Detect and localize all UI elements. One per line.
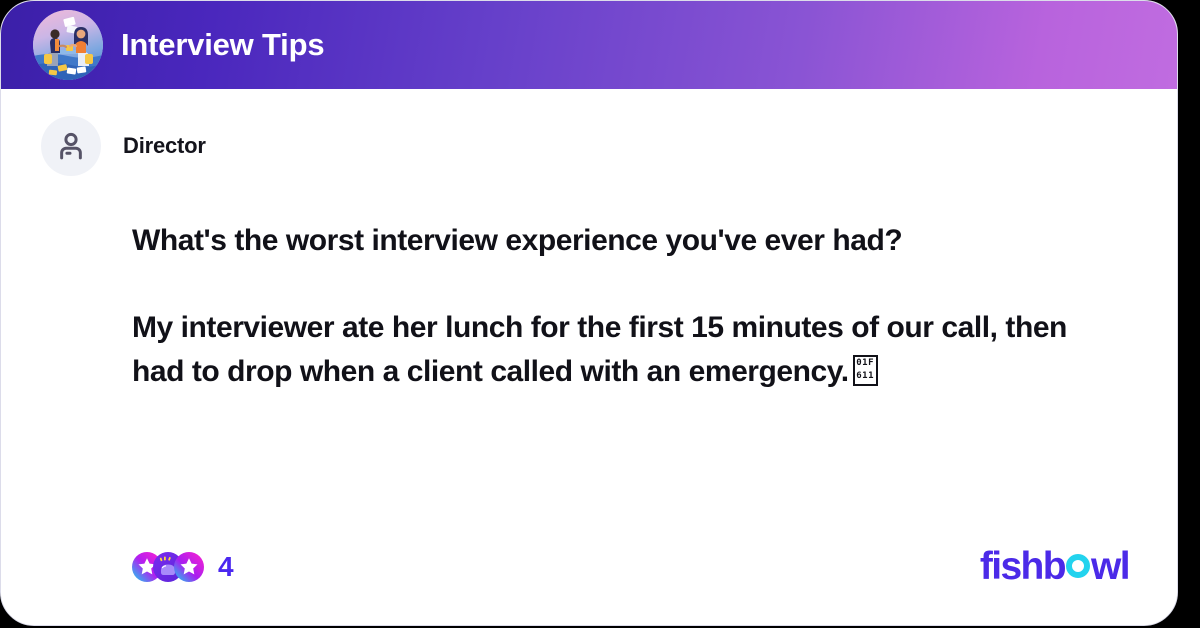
logo-text-before: fishb (980, 545, 1065, 589)
reaction-badge-stack[interactable] (132, 552, 204, 582)
fishbowl-logo: fishb wl (980, 545, 1129, 589)
missing-glyph-box-icon: 01F611 (853, 355, 878, 386)
author-name: Director (123, 133, 206, 159)
reaction-count: 4 (218, 551, 233, 583)
card-body: Director What's the worst interview expe… (1, 89, 1177, 625)
person-icon (54, 129, 88, 163)
author-row: Director (1, 89, 1177, 176)
card-header: Interview Tips (1, 1, 1177, 89)
group-avatar[interactable] (33, 10, 103, 80)
post-content: What's the worst interview experience yo… (1, 176, 1177, 393)
group-title: Interview Tips (121, 27, 324, 63)
logo-text-after: wl (1091, 545, 1129, 589)
glyph-code-bottom: 611 (855, 370, 876, 383)
interview-illustration-icon (33, 10, 103, 80)
post-body: My interviewer ate her lunch for the fir… (132, 260, 1092, 392)
reaction-badge-3[interactable] (174, 552, 204, 582)
glyph-code-top: 01F (855, 357, 876, 370)
author-avatar[interactable] (41, 116, 101, 176)
circle-o-icon (1066, 554, 1090, 578)
screenshot-stage: Interview Tips Director What's the worst… (0, 0, 1200, 628)
reactions-group[interactable]: 4 (132, 551, 233, 583)
post-title: What's the worst interview experience yo… (132, 176, 1097, 260)
post-card: Interview Tips Director What's the worst… (0, 0, 1178, 626)
card-footer: 4 fishb wl (1, 541, 1177, 593)
star-reaction-icon (174, 552, 204, 582)
post-body-line-1: My interviewer ate her lunch for the fir… (132, 311, 998, 344)
